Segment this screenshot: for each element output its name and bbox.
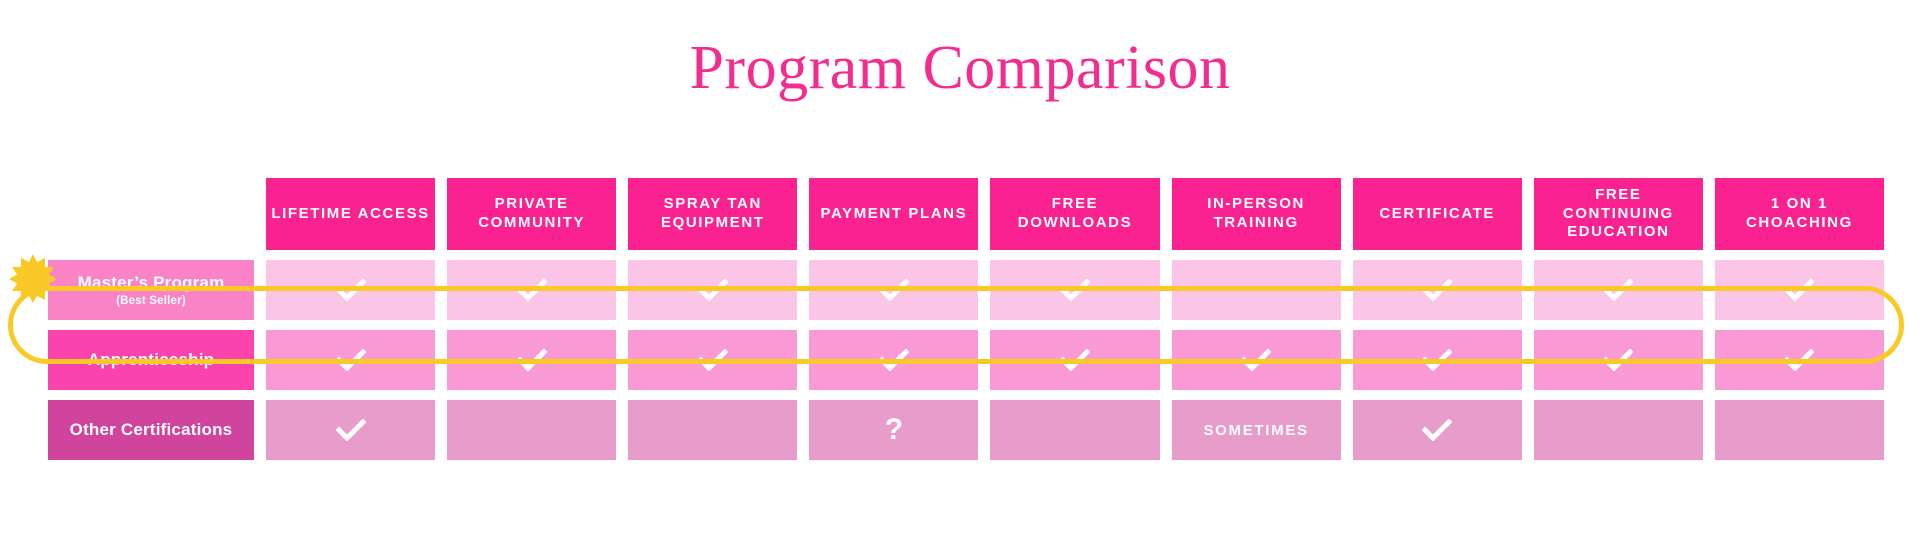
row-label-apprenticeship: Apprenticeship — [48, 330, 254, 390]
cell-apprenticeship-free-downloads — [990, 330, 1159, 390]
column-header-in-person-training: IN-PERSON TRAINING — [1172, 178, 1341, 250]
row-cells-masters-program — [266, 260, 1884, 320]
table-row-apprenticeship: Apprenticeship — [48, 330, 1884, 390]
check-icon — [517, 279, 547, 301]
check-icon — [698, 349, 728, 371]
check-icon — [1241, 349, 1271, 371]
column-header-label: 1 ON 1 CHOACHING — [1719, 195, 1880, 233]
check-icon — [517, 349, 547, 371]
column-header-certificate: CERTIFICATE — [1353, 178, 1522, 250]
check-icon — [336, 419, 366, 441]
column-header-lifetime-access: LIFETIME ACCESS — [266, 178, 435, 250]
cell-apprenticeship-certificate — [1353, 330, 1522, 390]
row-label-other-certifications: Other Certifications — [48, 400, 254, 460]
cell-value-text: SOMETIMES — [1203, 422, 1308, 439]
column-header-one-on-one-coaching: 1 ON 1 CHOACHING — [1715, 178, 1884, 250]
column-header-private-community: PRIVATE COMMUNITY — [447, 178, 616, 250]
cell-apprenticeship-private-community — [447, 330, 616, 390]
header-corner-spacer — [48, 178, 254, 250]
check-icon — [1422, 419, 1452, 441]
check-icon — [1784, 279, 1814, 301]
cell-masters-spray-tan-equipment — [628, 260, 797, 320]
cell-masters-certificate — [1353, 260, 1522, 320]
cell-masters-payment-plans — [809, 260, 978, 320]
check-icon — [1422, 349, 1452, 371]
cell-other-in-person-training: SOMETIMES — [1172, 400, 1341, 460]
column-header-free-continuing-education: FREE CONTINUING EDUCATION — [1534, 178, 1703, 250]
cell-masters-lifetime-access — [266, 260, 435, 320]
cell-other-private-community — [447, 400, 616, 460]
cell-apprenticeship-payment-plans — [809, 330, 978, 390]
cell-masters-in-person-training — [1172, 260, 1341, 320]
column-header-label: FREE DOWNLOADS — [994, 195, 1155, 233]
cell-apprenticeship-lifetime-access — [266, 330, 435, 390]
page-title: Program Comparison — [0, 36, 1920, 101]
column-header-label: FREE CONTINUING EDUCATION — [1538, 186, 1699, 242]
row-label-masters-program: Master’s Program (Best Seller) — [48, 260, 254, 320]
cell-masters-one-on-one-coaching — [1715, 260, 1884, 320]
column-header-spray-tan-equipment: SPRAY TAN EQUIPMENT — [628, 178, 797, 250]
check-icon — [1603, 279, 1633, 301]
row-cells-apprenticeship — [266, 330, 1884, 390]
column-header-label: LIFETIME ACCESS — [271, 205, 429, 224]
question-mark-icon: ? — [885, 415, 903, 445]
check-icon — [1784, 349, 1814, 371]
cell-apprenticeship-spray-tan-equipment — [628, 330, 797, 390]
column-header-payment-plans: PAYMENT PLANS — [809, 178, 978, 250]
check-icon — [1060, 279, 1090, 301]
row-label-title: Master’s Program — [78, 273, 225, 293]
column-header-label: CERTIFICATE — [1379, 205, 1495, 224]
comparison-table: LIFETIME ACCESS PRIVATE COMMUNITY SPRAY … — [48, 178, 1884, 460]
table-row-masters-program: Master’s Program (Best Seller) — [48, 260, 1884, 320]
cell-other-certificate — [1353, 400, 1522, 460]
cell-apprenticeship-in-person-training — [1172, 330, 1341, 390]
check-icon — [336, 279, 366, 301]
row-label-title: Apprenticeship — [88, 350, 215, 370]
check-icon — [336, 349, 366, 371]
program-comparison-page: Program Comparison LIFETIME ACCESS PRIVA… — [0, 0, 1920, 540]
cell-other-free-continuing-education — [1534, 400, 1703, 460]
row-cells-other-certifications: ? SOMETIMES — [266, 400, 1884, 460]
column-header-label: SPRAY TAN EQUIPMENT — [632, 195, 793, 233]
table-row-other-certifications: Other Certifications ? SOMETIMES — [48, 400, 1884, 460]
cell-other-payment-plans: ? — [809, 400, 978, 460]
column-header-label: PAYMENT PLANS — [821, 205, 968, 224]
table-header-row: LIFETIME ACCESS PRIVATE COMMUNITY SPRAY … — [48, 178, 1884, 250]
check-icon — [1060, 349, 1090, 371]
cell-masters-free-downloads — [990, 260, 1159, 320]
row-label-sublabel: (Best Seller) — [116, 295, 186, 307]
cell-other-lifetime-access — [266, 400, 435, 460]
column-header-label: PRIVATE COMMUNITY — [451, 195, 612, 233]
starburst-icon — [8, 253, 58, 303]
cell-apprenticeship-free-continuing-education — [1534, 330, 1703, 390]
check-icon — [1603, 349, 1633, 371]
check-icon — [879, 349, 909, 371]
cell-masters-private-community — [447, 260, 616, 320]
header-cells: LIFETIME ACCESS PRIVATE COMMUNITY SPRAY … — [266, 178, 1884, 250]
column-header-label: IN-PERSON TRAINING — [1176, 195, 1337, 233]
cell-apprenticeship-one-on-one-coaching — [1715, 330, 1884, 390]
check-icon — [1422, 279, 1452, 301]
row-label-title: Other Certifications — [70, 420, 233, 440]
cell-other-one-on-one-coaching — [1715, 400, 1884, 460]
check-icon — [698, 279, 728, 301]
check-icon — [879, 279, 909, 301]
column-header-free-downloads: FREE DOWNLOADS — [990, 178, 1159, 250]
cell-other-spray-tan-equipment — [628, 400, 797, 460]
cell-masters-free-continuing-education — [1534, 260, 1703, 320]
cell-other-free-downloads — [990, 400, 1159, 460]
